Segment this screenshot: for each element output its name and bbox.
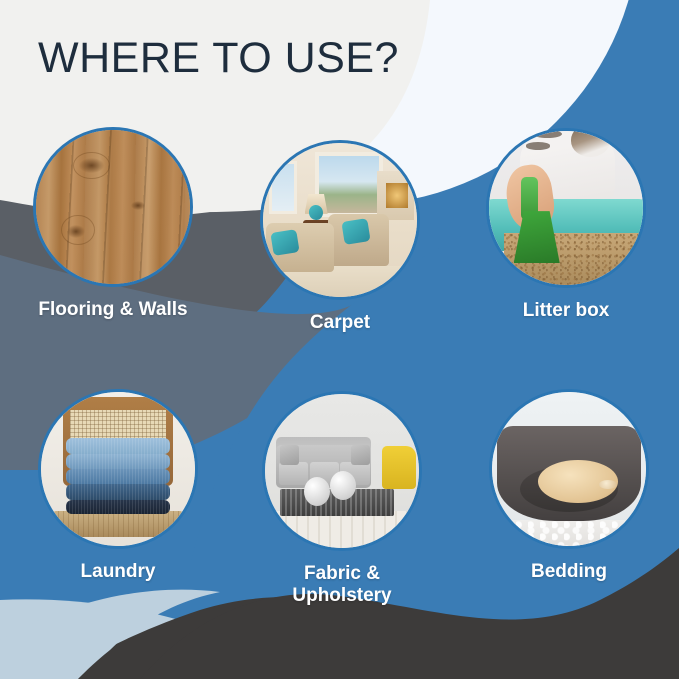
infographic-panel: WHERE TO USE? Flooring & Walls: [0, 0, 679, 679]
circle-image-carpet: [260, 140, 420, 300]
folded-jeans: [66, 438, 171, 453]
use-case-grid: Flooring & Walls: [0, 0, 679, 679]
use-case-item-laundry[interactable]: Laundry: [5, 389, 231, 583]
wood-grain-ring: [73, 152, 110, 180]
sofa-upholstery-photo: [265, 394, 419, 548]
wood-floor-element: [265, 511, 419, 548]
use-case-item-litter-box[interactable]: Litter box: [453, 128, 679, 322]
label-line-2: Upholstery: [229, 585, 455, 607]
page-title: WHERE TO USE?: [38, 34, 399, 83]
use-case-item-carpet[interactable]: Carpet: [227, 140, 453, 334]
teal-pillow: [271, 229, 300, 256]
sofa-pillow: [351, 445, 369, 465]
folded-jeans: [66, 454, 171, 469]
use-case-label-flooring-walls: Flooring & Walls: [0, 299, 226, 321]
circle-image-fabric-upholstery: [262, 391, 422, 551]
use-case-label-laundry: Laundry: [5, 561, 231, 583]
use-case-label-carpet: Carpet: [227, 312, 453, 334]
wood-knot-icon: [131, 201, 145, 210]
chair-cane-panel: [70, 410, 165, 441]
use-case-label-litter-box: Litter box: [453, 300, 679, 322]
circle-image-laundry: [38, 389, 198, 549]
wood-flooring-photo: [36, 130, 190, 284]
circle-image-bedding: [489, 389, 649, 549]
cat-stripe: [533, 130, 562, 138]
chair-seat: [53, 511, 182, 537]
sofa-cushion: [279, 462, 308, 485]
fireplace-flame: [386, 183, 408, 208]
window-element-left: [269, 161, 297, 213]
use-case-label-fabric-upholstery: Fabric & Upholstery: [229, 563, 455, 608]
decorative-sphere: [304, 477, 330, 506]
litter-box-photo: [489, 131, 643, 285]
decorative-sphere: [330, 471, 356, 500]
cat-head: [571, 128, 609, 157]
use-case-label-bedding: Bedding: [456, 561, 679, 583]
cat-head: [599, 480, 617, 489]
fluffy-rug: [492, 520, 646, 546]
circle-image-flooring-walls: [33, 127, 193, 287]
folded-jeans: [66, 500, 171, 514]
pet-bedding-photo: [492, 392, 646, 546]
yellow-chair: [382, 446, 416, 489]
living-room-carpet-photo: [263, 143, 417, 297]
wood-grain-ring: [61, 215, 95, 246]
laundry-jeans-photo: [41, 392, 195, 546]
cat-stripe: [526, 142, 551, 149]
folded-jeans: [66, 484, 171, 499]
sofa-pillow: [280, 445, 298, 465]
label-line-1: Fabric &: [229, 563, 455, 585]
folded-jeans: [66, 469, 171, 484]
use-case-item-fabric-upholstery[interactable]: Fabric & Upholstery: [229, 391, 455, 608]
use-case-item-flooring-walls[interactable]: Flooring & Walls: [0, 127, 226, 321]
circle-image-litter-box: [486, 128, 646, 288]
ginger-cat: [538, 460, 618, 503]
use-case-item-bedding[interactable]: Bedding: [456, 389, 679, 583]
teal-pillow: [341, 218, 370, 245]
